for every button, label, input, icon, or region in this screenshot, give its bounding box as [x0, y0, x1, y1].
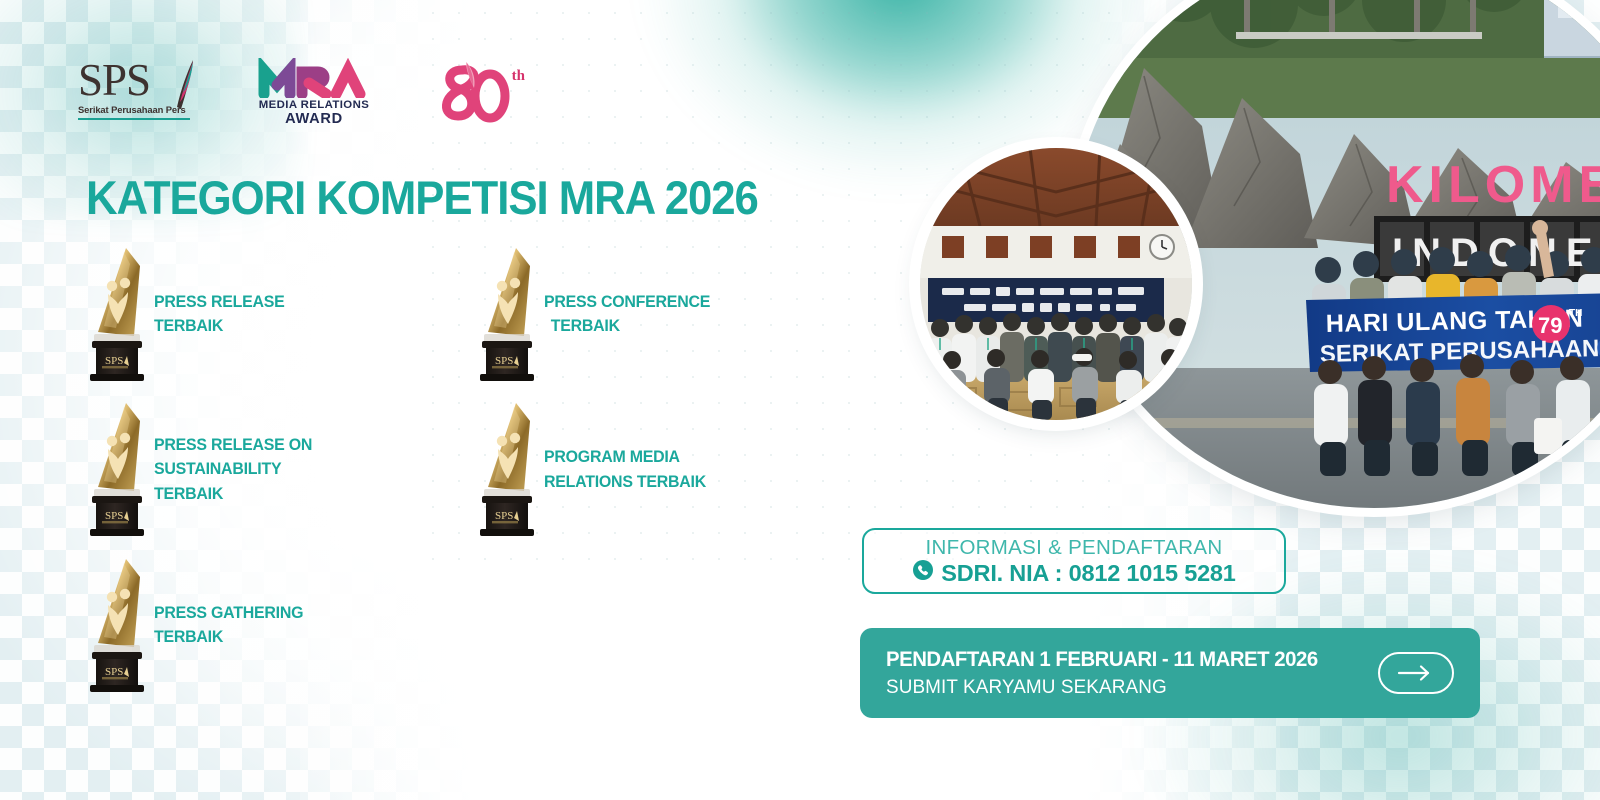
- svg-text:SPS: SPS: [495, 510, 513, 522]
- category-label-line: PRESS GATHERING: [154, 601, 303, 626]
- trophy-icon: SPS: [82, 242, 154, 387]
- submit-arrow-button[interactable]: [1378, 652, 1454, 694]
- svg-text:INDONESI: INDONESI: [1392, 231, 1600, 275]
- mra-mark: [256, 58, 372, 98]
- category-label: PRESS GATHERING TERBAIK: [154, 601, 303, 650]
- anniversary-number: [432, 56, 512, 128]
- category-label: PRESS RELEASE ON SUSTAINABILITY TERBAIK: [154, 433, 312, 507]
- photo-small-illustration: [920, 148, 1192, 420]
- category-list: SPS PRESS RELEASE TERBAIK: [82, 240, 872, 699]
- category-label: PRESS CONFERENCE TERBAIK: [544, 290, 710, 339]
- category-label-line: TERBAIK: [154, 625, 303, 650]
- info-box-title: INFORMASI & PENDAFTARAN: [926, 536, 1223, 559]
- category-label: PROGRAM MEDIA RELATIONS TERBAIK: [544, 445, 706, 494]
- logo-bar: SPS Serikat Perusahaan Pers: [78, 52, 524, 132]
- info-contact-text: SDRI. NIA : 0812 1015 5281: [941, 560, 1235, 586]
- category-item-program-media-relations: SPS PROGRAM MEDIA RELATIONS TERBAIK: [472, 388, 713, 551]
- category-item-press-gathering: SPS PRESS GATHERING TERBAIK: [82, 551, 472, 699]
- info-registration-box[interactable]: INFORMASI & PENDAFTARAN SDRI. NIA : 0812…: [862, 528, 1286, 594]
- anniversary-suffix: th: [512, 68, 525, 85]
- quill-icon: [174, 59, 196, 113]
- anniversary-80th-logo: th: [432, 56, 524, 128]
- category-row: SPS PRESS RELEASE ON SUSTAINABILITY TERB…: [82, 388, 872, 551]
- photo-indoor-group: [920, 148, 1192, 420]
- trophy-icon: SPS: [82, 553, 154, 698]
- category-label-line: PRESS RELEASE: [154, 290, 285, 315]
- mra-logo: MEDIA RELATIONS AWARD: [254, 55, 374, 129]
- sps-logo: SPS Serikat Perusahaan Pers: [78, 57, 196, 127]
- category-label-line: TERBAIK: [154, 482, 312, 507]
- trophy-icon: SPS: [472, 397, 544, 542]
- svg-text:SPS: SPS: [105, 355, 123, 367]
- registration-cta-bar[interactable]: PENDAFTARAN 1 FEBRUARI - 11 MARET 2026 S…: [860, 628, 1480, 718]
- category-label-line: PRESS CONFERENCE: [544, 290, 710, 315]
- phone-icon: [912, 559, 934, 586]
- sps-underline: [78, 118, 190, 120]
- info-contact-line: SDRI. NIA : 0812 1015 5281: [912, 559, 1235, 586]
- category-label-line: PRESS RELEASE ON: [154, 433, 312, 458]
- svg-text:SPS: SPS: [105, 510, 123, 522]
- svg-text:SPS: SPS: [105, 666, 123, 678]
- category-row: SPS PRESS RELEASE TERBAIK: [82, 240, 872, 388]
- cta-text-block: PENDAFTARAN 1 FEBRUARI - 11 MARET 2026 S…: [886, 646, 1378, 701]
- category-label-line: SUSTAINABILITY: [154, 457, 312, 482]
- svg-text:KILOMETER: KILOMETER: [1386, 156, 1600, 214]
- cta-dates: PENDAFTARAN 1 FEBRUARI - 11 MARET 2026: [886, 646, 1363, 674]
- category-row: SPS PRESS GATHERING TERBAIK: [82, 551, 872, 699]
- category-label-line: RELATIONS TERBAIK: [544, 470, 706, 495]
- poster-canvas: INDONESI KILOMETER: [0, 0, 1600, 800]
- trophy-icon: SPS: [472, 242, 544, 387]
- svg-text:TH: TH: [1569, 308, 1582, 319]
- arrow-right-icon: [1396, 664, 1436, 682]
- category-label-line: TERBAIK: [154, 314, 285, 339]
- mra-subtitle-1: MEDIA RELATIONS: [259, 99, 369, 111]
- category-label-line: PROGRAM MEDIA: [544, 445, 706, 470]
- category-item-press-release-sustainability: SPS PRESS RELEASE ON SUSTAINABILITY TERB…: [82, 388, 472, 551]
- page-title: KATEGORI KOMPETISI MRA 2026: [86, 172, 758, 224]
- mra-subtitle-2: AWARD: [285, 111, 343, 127]
- category-item-press-release: SPS PRESS RELEASE TERBAIK: [82, 240, 472, 388]
- trophy-icon: SPS: [82, 397, 154, 542]
- category-label-line: TERBAIK: [544, 314, 710, 339]
- category-item-press-conference: SPS PRESS CONFERENCE TERBAIK: [472, 240, 717, 388]
- cta-subtitle: SUBMIT KARYAMU SEKARANG: [886, 674, 1363, 701]
- category-label: PRESS RELEASE TERBAIK: [154, 290, 285, 339]
- svg-text:79: 79: [1538, 313, 1562, 338]
- svg-text:SPS: SPS: [495, 355, 513, 367]
